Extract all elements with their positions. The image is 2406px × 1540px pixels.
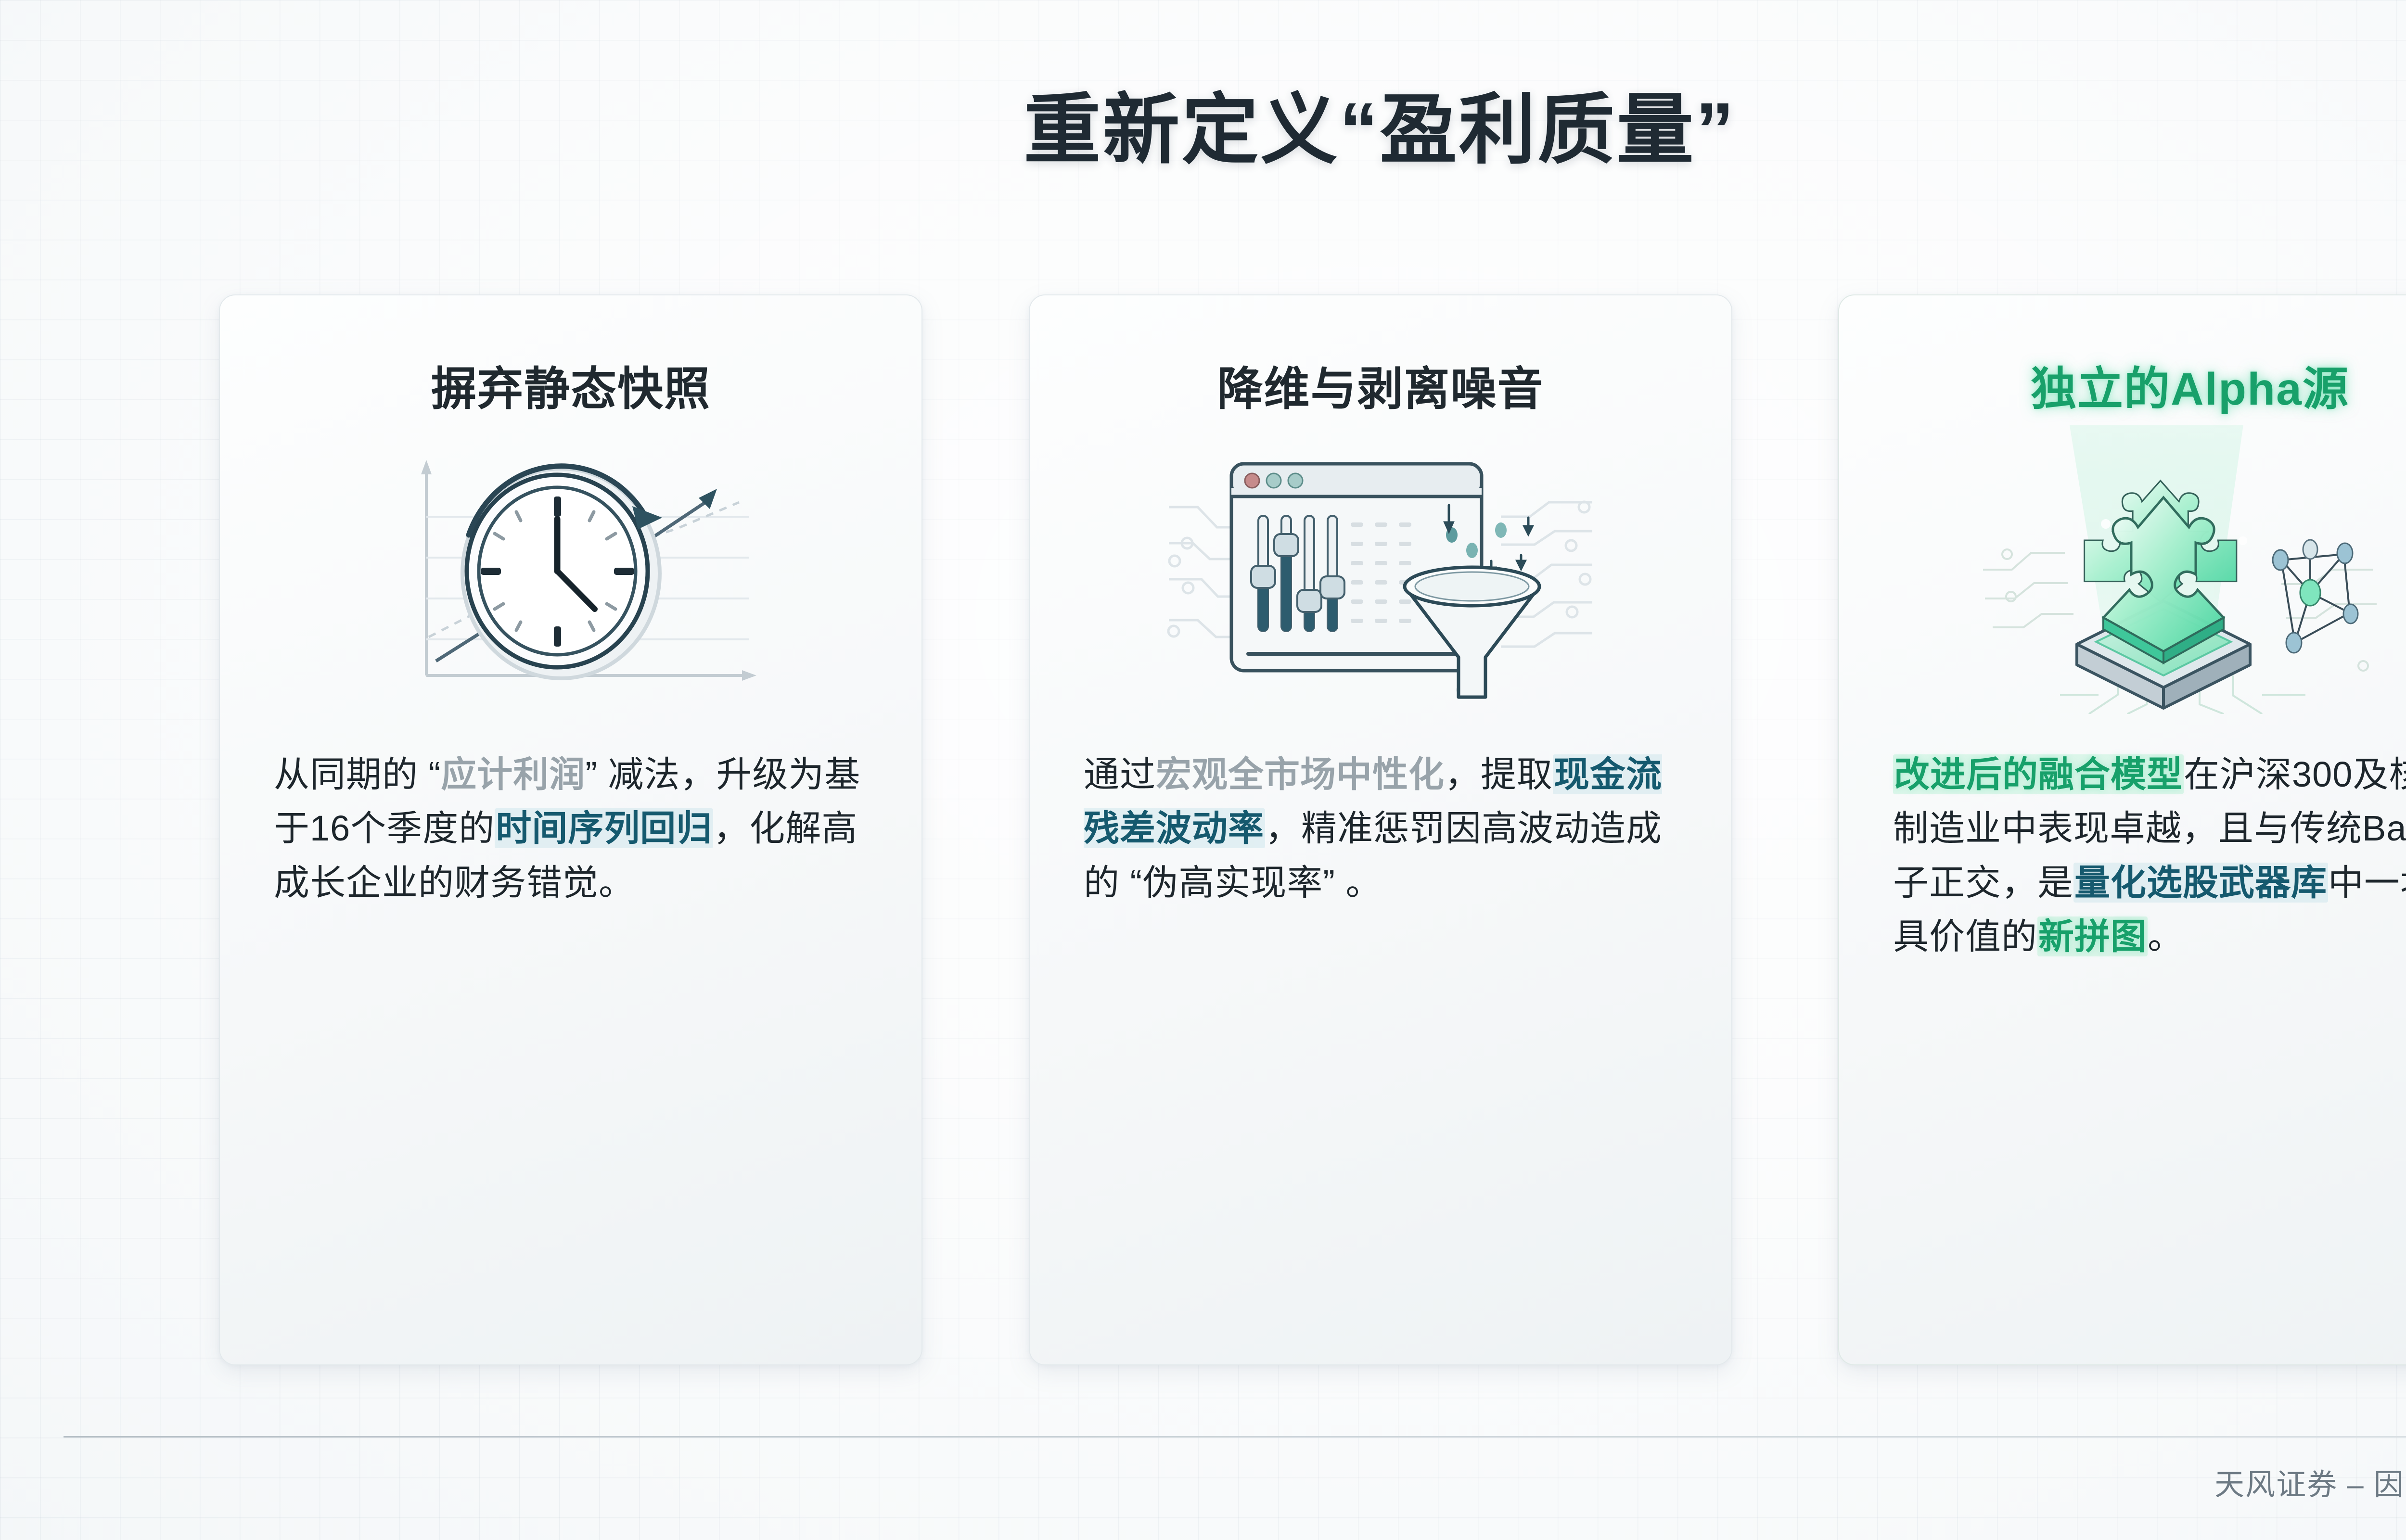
card-3-title: 独立的Alpha源 [1839, 352, 2406, 418]
card-3-highlight-teal: 量化选股武器库 [2073, 863, 2328, 903]
card-2-title: 降维与剥离噪音 [1030, 352, 1731, 418]
card-3-highlight-green-2: 新拼图 [2037, 916, 2148, 956]
footer-divider [64, 1436, 2406, 1438]
puzzle-chip-network-icon [1839, 416, 2406, 724]
card-1-body: 从同期的 “应计利润” 减法，升级为基于16个季度的时间序列回归，化解高成长企业… [274, 748, 873, 910]
card-1-highlight-gray: 应计利润 [441, 754, 585, 794]
card-3-seg3: 。 [2148, 916, 2184, 956]
card-1-seg1: 从同期的 “ [274, 754, 441, 794]
card-independent-alpha-source: 独立的Alpha源 [1838, 294, 2406, 1365]
sliders-funnel-circuit-icon [1030, 416, 1731, 724]
card-dimension-reduction-denoise: 降维与剥离噪音 [1029, 294, 1732, 1365]
card-2-body: 通过宏观全市场中性化，提取现金流残差波动率，精准惩罚因高波动造成的 “伪高实现率… [1084, 748, 1683, 910]
clock-trend-chart-icon [220, 416, 921, 724]
card-3-highlight-green-1: 改进后的融合模型 [1893, 754, 2184, 794]
card-2-seg2: ，提取 [1445, 754, 1553, 794]
footer-attribution: 天风证券 – 因子选股系列之一 [2214, 1460, 2406, 1503]
card-1-highlight-teal: 时间序列回归 [495, 808, 713, 848]
card-2-seg1: 通过 [1084, 754, 1156, 794]
card-discard-static-snapshot: 摒弃静态快照 [219, 294, 922, 1365]
page-title: 重新定义“盈利质量” [0, 67, 2406, 179]
card-3-body: 改进后的融合模型在沪深300及核心制造业中表现卓越，且与传统Barra因子正交，… [1893, 748, 2406, 964]
card-1-title: 摒弃静态快照 [220, 352, 921, 418]
card-2-highlight-gray: 宏观全市场中性化 [1156, 754, 1445, 794]
